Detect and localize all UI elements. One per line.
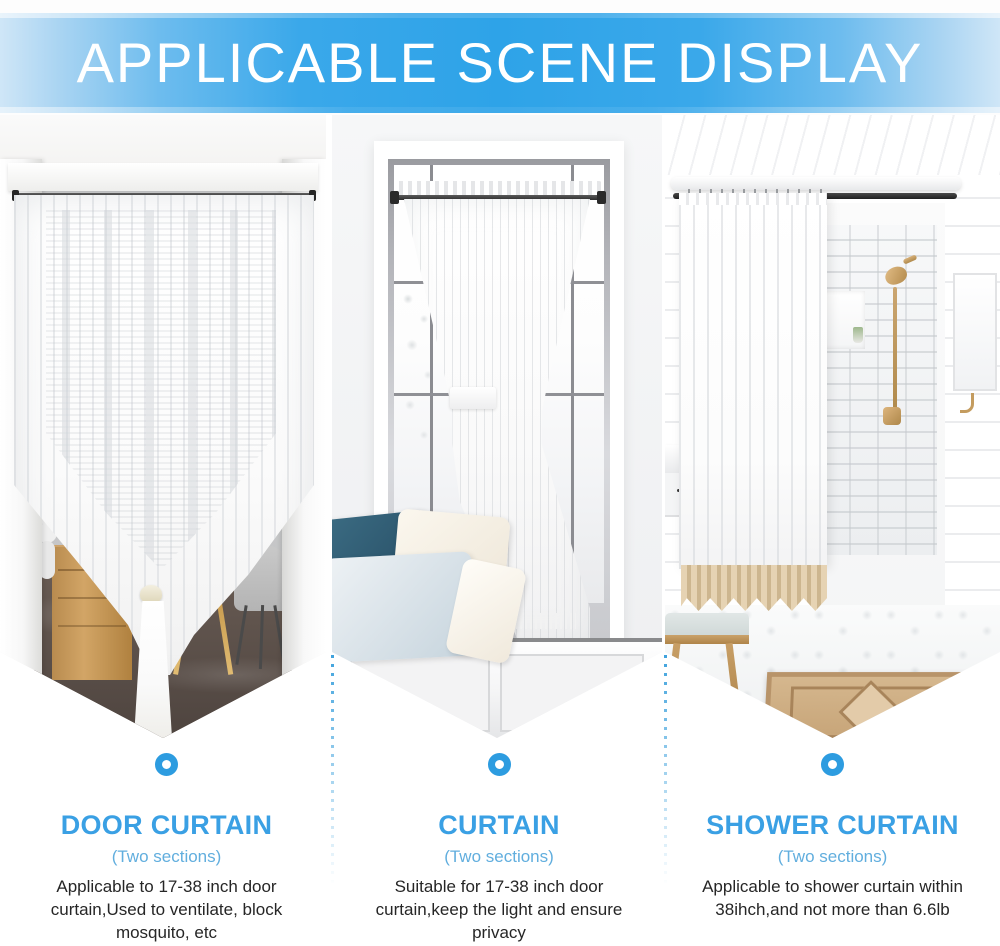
wall-mirror [953, 273, 997, 391]
shower-niche [823, 291, 865, 349]
door-curtain-scene-image [0, 115, 326, 738]
ring-marker-icon [488, 753, 511, 776]
chair-leg [235, 605, 247, 665]
patterned-bath-rug [763, 672, 980, 738]
subway-tile-wall [823, 225, 937, 555]
caption-shower-curtain: SHOWER CURTAIN (Two sections) Applicable… [665, 745, 1000, 922]
bench-panel-group [350, 654, 644, 732]
curtain-tieback [450, 387, 496, 409]
caption-curtain: CURTAIN (Two sections) Suitable for 17-3… [333, 745, 665, 945]
ring-marker-icon [821, 753, 844, 776]
scene-panel-door-curtain[interactable] [0, 115, 326, 738]
caption-title: CURTAIN [333, 812, 665, 839]
door-header-trim [8, 163, 318, 191]
scene-panel-shower-curtain[interactable] [665, 115, 1000, 738]
caption-subtitle: (Two sections) [333, 848, 665, 865]
bench-leg [665, 643, 680, 733]
curtain-header [679, 193, 827, 205]
caption-row: DOOR CURTAIN (Two sections) Applicable t… [0, 745, 1000, 946]
shower-valve [883, 407, 901, 425]
bench-panel [350, 654, 490, 732]
caption-description: Applicable to shower curtain within 38ih… [665, 876, 1000, 922]
caption-description: Applicable to 17-38 inch door curtain,Us… [0, 876, 333, 945]
brass-shower-head [881, 257, 917, 289]
curtain-fringe [510, 613, 576, 629]
header-banner-area: APPLICABLE SCENE DISPLAY [0, 0, 1000, 115]
shower-head [883, 263, 910, 287]
caption-title: DOOR CURTAIN [0, 812, 333, 839]
caption-subtitle: (Two sections) [0, 848, 333, 865]
caption-door-curtain: DOOR CURTAIN (Two sections) Applicable t… [0, 745, 333, 945]
bench-panel [500, 654, 644, 732]
page-title: APPLICABLE SCENE DISPLAY [0, 35, 1000, 91]
white-shower-curtain [679, 197, 827, 569]
window-curtain-scene-image [332, 115, 662, 738]
caption-title: SHOWER CURTAIN [665, 812, 1000, 839]
small-plant [853, 327, 863, 343]
shower-curtain-scene-image [665, 115, 1000, 738]
plank-ceiling [665, 115, 1000, 175]
scene-panel-strip [0, 115, 1000, 740]
curtain-tie-knot [140, 585, 162, 603]
bench-leg [726, 643, 744, 733]
wooden-bench [665, 613, 749, 738]
shower-hose [893, 287, 897, 409]
chair-leg [259, 605, 264, 669]
header-banner: APPLICABLE SCENE DISPLAY [0, 13, 1000, 113]
scene-panel-window-curtain[interactable] [332, 115, 662, 738]
caption-description: Suitable for 17-38 inch door curtain,kee… [333, 876, 665, 945]
caption-subtitle: (Two sections) [665, 848, 1000, 865]
ring-marker-icon [155, 753, 178, 776]
